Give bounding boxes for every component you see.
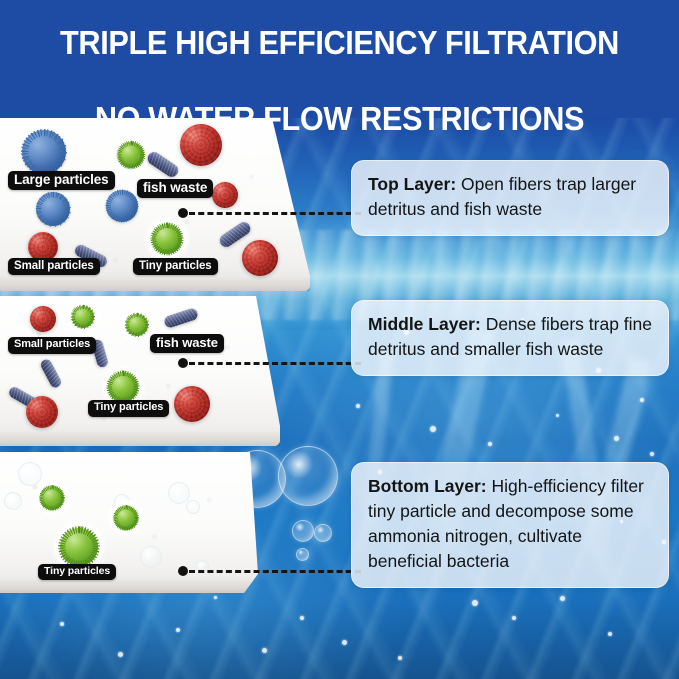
connector-dash: [189, 362, 361, 365]
particle-small-red: [242, 240, 278, 276]
particle-tiny-green: [72, 306, 94, 328]
foam-bubble: [168, 482, 190, 504]
page-title: TRIPLE HIGH EFFICIENCY FILTRATION NO WAT…: [24, 0, 655, 138]
water-speckle: [472, 600, 478, 606]
particle-large-blue: [106, 190, 138, 222]
water-speckle: [176, 628, 180, 632]
callout-middle-layer: Middle Layer: Dense fibers trap fine det…: [351, 300, 669, 376]
particle-small-red: [212, 182, 238, 208]
particle-tiny-green: [118, 142, 144, 168]
water-speckle: [342, 640, 347, 645]
connector-dash: [189, 570, 361, 573]
particle-large-blue: [22, 130, 66, 174]
particle-label-fish-waste: fish waste: [150, 334, 224, 353]
water-speckle: [556, 414, 559, 417]
callout-title-top: Top Layer:: [368, 174, 456, 194]
foam-front-edge: [0, 431, 280, 446]
particle-tiny-green: [108, 372, 138, 402]
particle-large-blue: [36, 192, 70, 226]
foam-bubble: [18, 462, 42, 486]
particle-label-small-particles: Small particles: [8, 337, 96, 354]
infographic-canvas: TRIPLE HIGH EFFICIENCY FILTRATION NO WAT…: [0, 0, 679, 679]
water-bubble-large: [296, 548, 309, 561]
callout-title-bottom: Bottom Layer:: [368, 476, 487, 496]
water-speckle: [650, 452, 654, 456]
callout-title-middle: Middle Layer:: [368, 314, 481, 334]
particle-tiny-green: [40, 486, 64, 510]
water-speckle: [262, 648, 267, 653]
water-bubble-large: [314, 524, 332, 542]
particle-tiny-green: [152, 224, 182, 254]
particle-label-small-particles: Small particles: [8, 258, 100, 275]
water-speckle: [300, 616, 304, 620]
callout-bottom-layer: Bottom Layer: High-efficiency filter tin…: [351, 462, 669, 588]
foam-front-edge: [0, 578, 258, 593]
connector-top: [178, 208, 358, 218]
title-line-1: TRIPLE HIGH EFFICIENCY FILTRATION: [33, 24, 646, 62]
connector-middle: [178, 358, 358, 368]
connector-dot: [178, 566, 188, 576]
connector-dot: [178, 358, 188, 368]
water-speckle: [214, 596, 217, 599]
foam-bubble: [140, 546, 162, 568]
connector-dot: [178, 208, 188, 218]
water-speckle: [608, 632, 612, 636]
particle-label-tiny-particles: Tiny particles: [38, 564, 116, 580]
particle-small-red: [26, 396, 58, 428]
connector-dash: [189, 212, 361, 215]
particle-small-red: [174, 386, 210, 422]
particle-label-large-particles: Large particles: [8, 171, 115, 190]
foam-front-edge: [0, 276, 310, 291]
water-speckle: [430, 426, 436, 432]
connector-bottom: [178, 566, 358, 576]
particle-small-red: [30, 306, 56, 332]
callout-top-layer: Top Layer: Open fibers trap larger detri…: [351, 160, 669, 236]
foam-bubble: [4, 492, 22, 510]
water-speckle: [356, 404, 360, 408]
water-speckle: [560, 596, 565, 601]
water-speckle: [398, 656, 402, 660]
particle-label-tiny-particles: Tiny particles: [133, 258, 218, 275]
water-speckle: [118, 652, 123, 657]
water-speckle: [512, 616, 516, 620]
particle-tiny-green: [114, 506, 138, 530]
water-speckle: [614, 436, 619, 441]
water-bubble-large: [292, 520, 314, 542]
particle-label-fish-waste: fish waste: [137, 179, 213, 198]
particle-tiny-green: [126, 314, 148, 336]
particle-label-tiny-particles: Tiny particles: [88, 400, 169, 417]
header-banner: TRIPLE HIGH EFFICIENCY FILTRATION NO WAT…: [0, 0, 679, 118]
foam-bubble: [186, 500, 200, 514]
particle-small-red: [180, 124, 222, 166]
water-speckle: [60, 622, 64, 626]
water-bubble-large: [278, 446, 338, 506]
particle-tiny-green: [60, 528, 98, 566]
water-speckle: [640, 398, 644, 402]
water-speckle: [488, 442, 492, 446]
